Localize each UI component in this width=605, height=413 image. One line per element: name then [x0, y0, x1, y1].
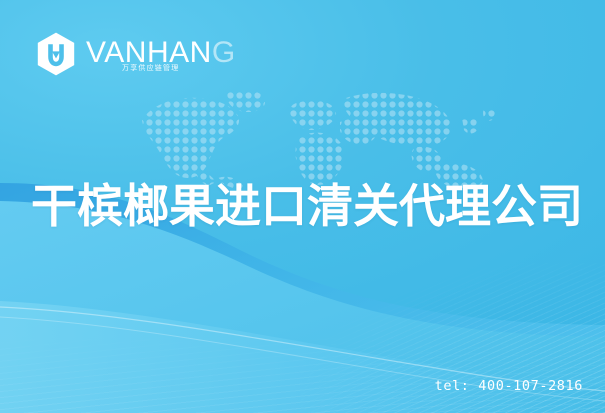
dotted-world-map [118, 82, 508, 190]
promo-banner: VANHANG 万享供应链管理 干槟榔果进口清关代理公司 tel: 400-10… [0, 0, 605, 413]
brand-subtitle: 万享供应链管理 [122, 63, 179, 73]
brand-wordmark: VANHANG 万享供应链管理 [86, 31, 236, 77]
hexagon-u-logo-icon [34, 31, 78, 77]
brand-logo: VANHANG 万享供应链管理 [34, 30, 236, 78]
headline-title: 干槟榔果进口清关代理公司 [31, 178, 579, 234]
contact-phone: tel: 400-107-2816 [435, 378, 583, 394]
